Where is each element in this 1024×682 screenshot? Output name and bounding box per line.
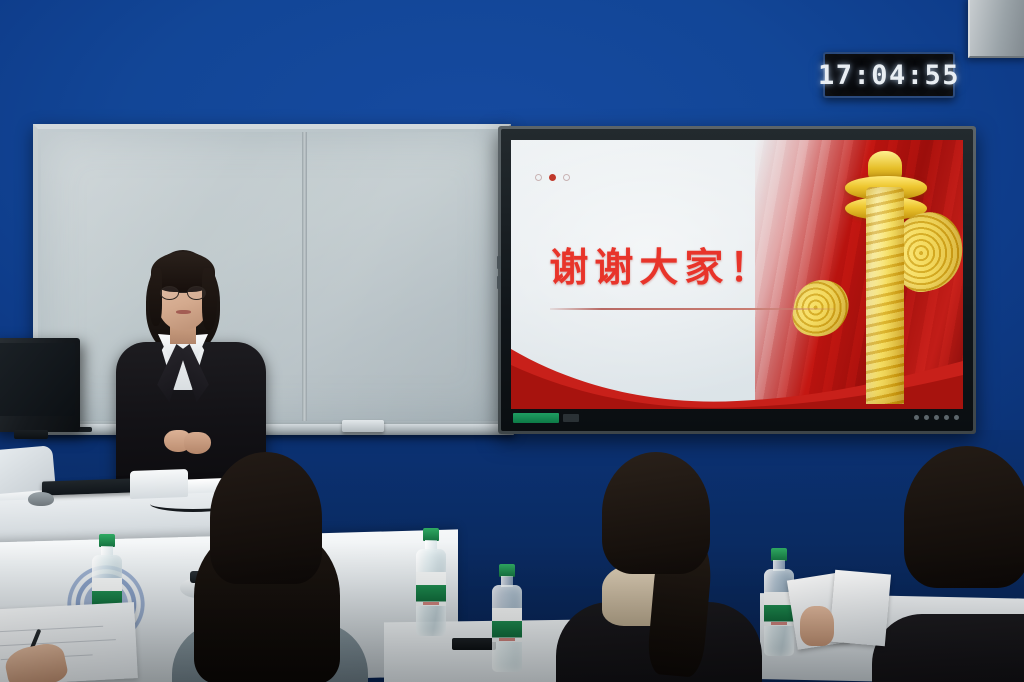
bottle-label bbox=[416, 572, 446, 606]
paper-sheet bbox=[829, 570, 891, 647]
slide-dot bbox=[535, 174, 542, 181]
wall-speaker-icon bbox=[968, 0, 1024, 58]
water-bottle bbox=[488, 564, 526, 672]
panel-button-icon[interactable] bbox=[934, 415, 939, 420]
attendee-denim-jacket bbox=[168, 452, 368, 682]
glasses-icon bbox=[160, 286, 206, 300]
attendee-ponytail-scarf bbox=[556, 452, 756, 682]
monitor-stand bbox=[14, 430, 48, 439]
attendee-holding-papers bbox=[884, 446, 1024, 682]
desktop-monitor bbox=[0, 338, 80, 432]
slide-dot-active bbox=[549, 174, 556, 181]
presenter-hand-right bbox=[184, 432, 211, 454]
classroom-scene: 17:04:55 bbox=[0, 0, 1024, 682]
presentation-slide[interactable]: 谢谢大家！ bbox=[511, 140, 963, 409]
slide-dot-indicators bbox=[535, 174, 570, 181]
panel-button-icon[interactable] bbox=[944, 415, 949, 420]
panel-dark-sticker bbox=[563, 414, 579, 422]
glasses-lens-left bbox=[160, 286, 179, 300]
panel-control-buttons[interactable] bbox=[914, 415, 959, 420]
dragon-carving bbox=[866, 187, 904, 404]
slide-title: 谢谢大家！ bbox=[549, 237, 774, 293]
bottle-label-mark bbox=[499, 638, 515, 641]
eraser-icon[interactable] bbox=[342, 420, 384, 432]
panel-button-icon[interactable] bbox=[954, 415, 959, 420]
panel-bottom-bezel bbox=[511, 411, 963, 427]
attendee-head bbox=[602, 452, 710, 574]
monitor-screen bbox=[0, 343, 75, 416]
attendee-head bbox=[210, 452, 322, 584]
panel-button-icon[interactable] bbox=[924, 415, 929, 420]
note-line bbox=[0, 639, 116, 646]
attendee-head bbox=[904, 446, 1024, 588]
whiteboard-panel-divider bbox=[302, 132, 307, 421]
presenter-mouth bbox=[176, 310, 191, 314]
glasses-lens-right bbox=[187, 286, 206, 300]
bottle-label-mark bbox=[771, 622, 787, 625]
attendee-body bbox=[872, 614, 1024, 682]
bottle-label bbox=[492, 608, 522, 642]
panel-green-sticker bbox=[513, 413, 559, 423]
water-bottle bbox=[412, 528, 450, 636]
slide-horizontal-rule bbox=[550, 308, 835, 310]
slide-dot bbox=[563, 174, 570, 181]
bottle-label-mark bbox=[423, 602, 439, 605]
interactive-flat-panel[interactable]: 谢谢大家！ bbox=[498, 126, 976, 434]
attendee-hand bbox=[800, 606, 834, 646]
mouse-icon[interactable] bbox=[28, 492, 54, 506]
panel-bezel: 谢谢大家！ bbox=[501, 129, 973, 431]
note-line bbox=[0, 626, 103, 632]
glasses-bridge bbox=[179, 292, 187, 293]
huabiao-shaft bbox=[866, 187, 904, 404]
clock-time-display: 17:04:55 bbox=[818, 60, 960, 91]
huabiao-column-decoration bbox=[830, 145, 943, 403]
digital-wall-clock: 17:04:55 bbox=[823, 52, 955, 98]
panel-button-icon[interactable] bbox=[914, 415, 919, 420]
